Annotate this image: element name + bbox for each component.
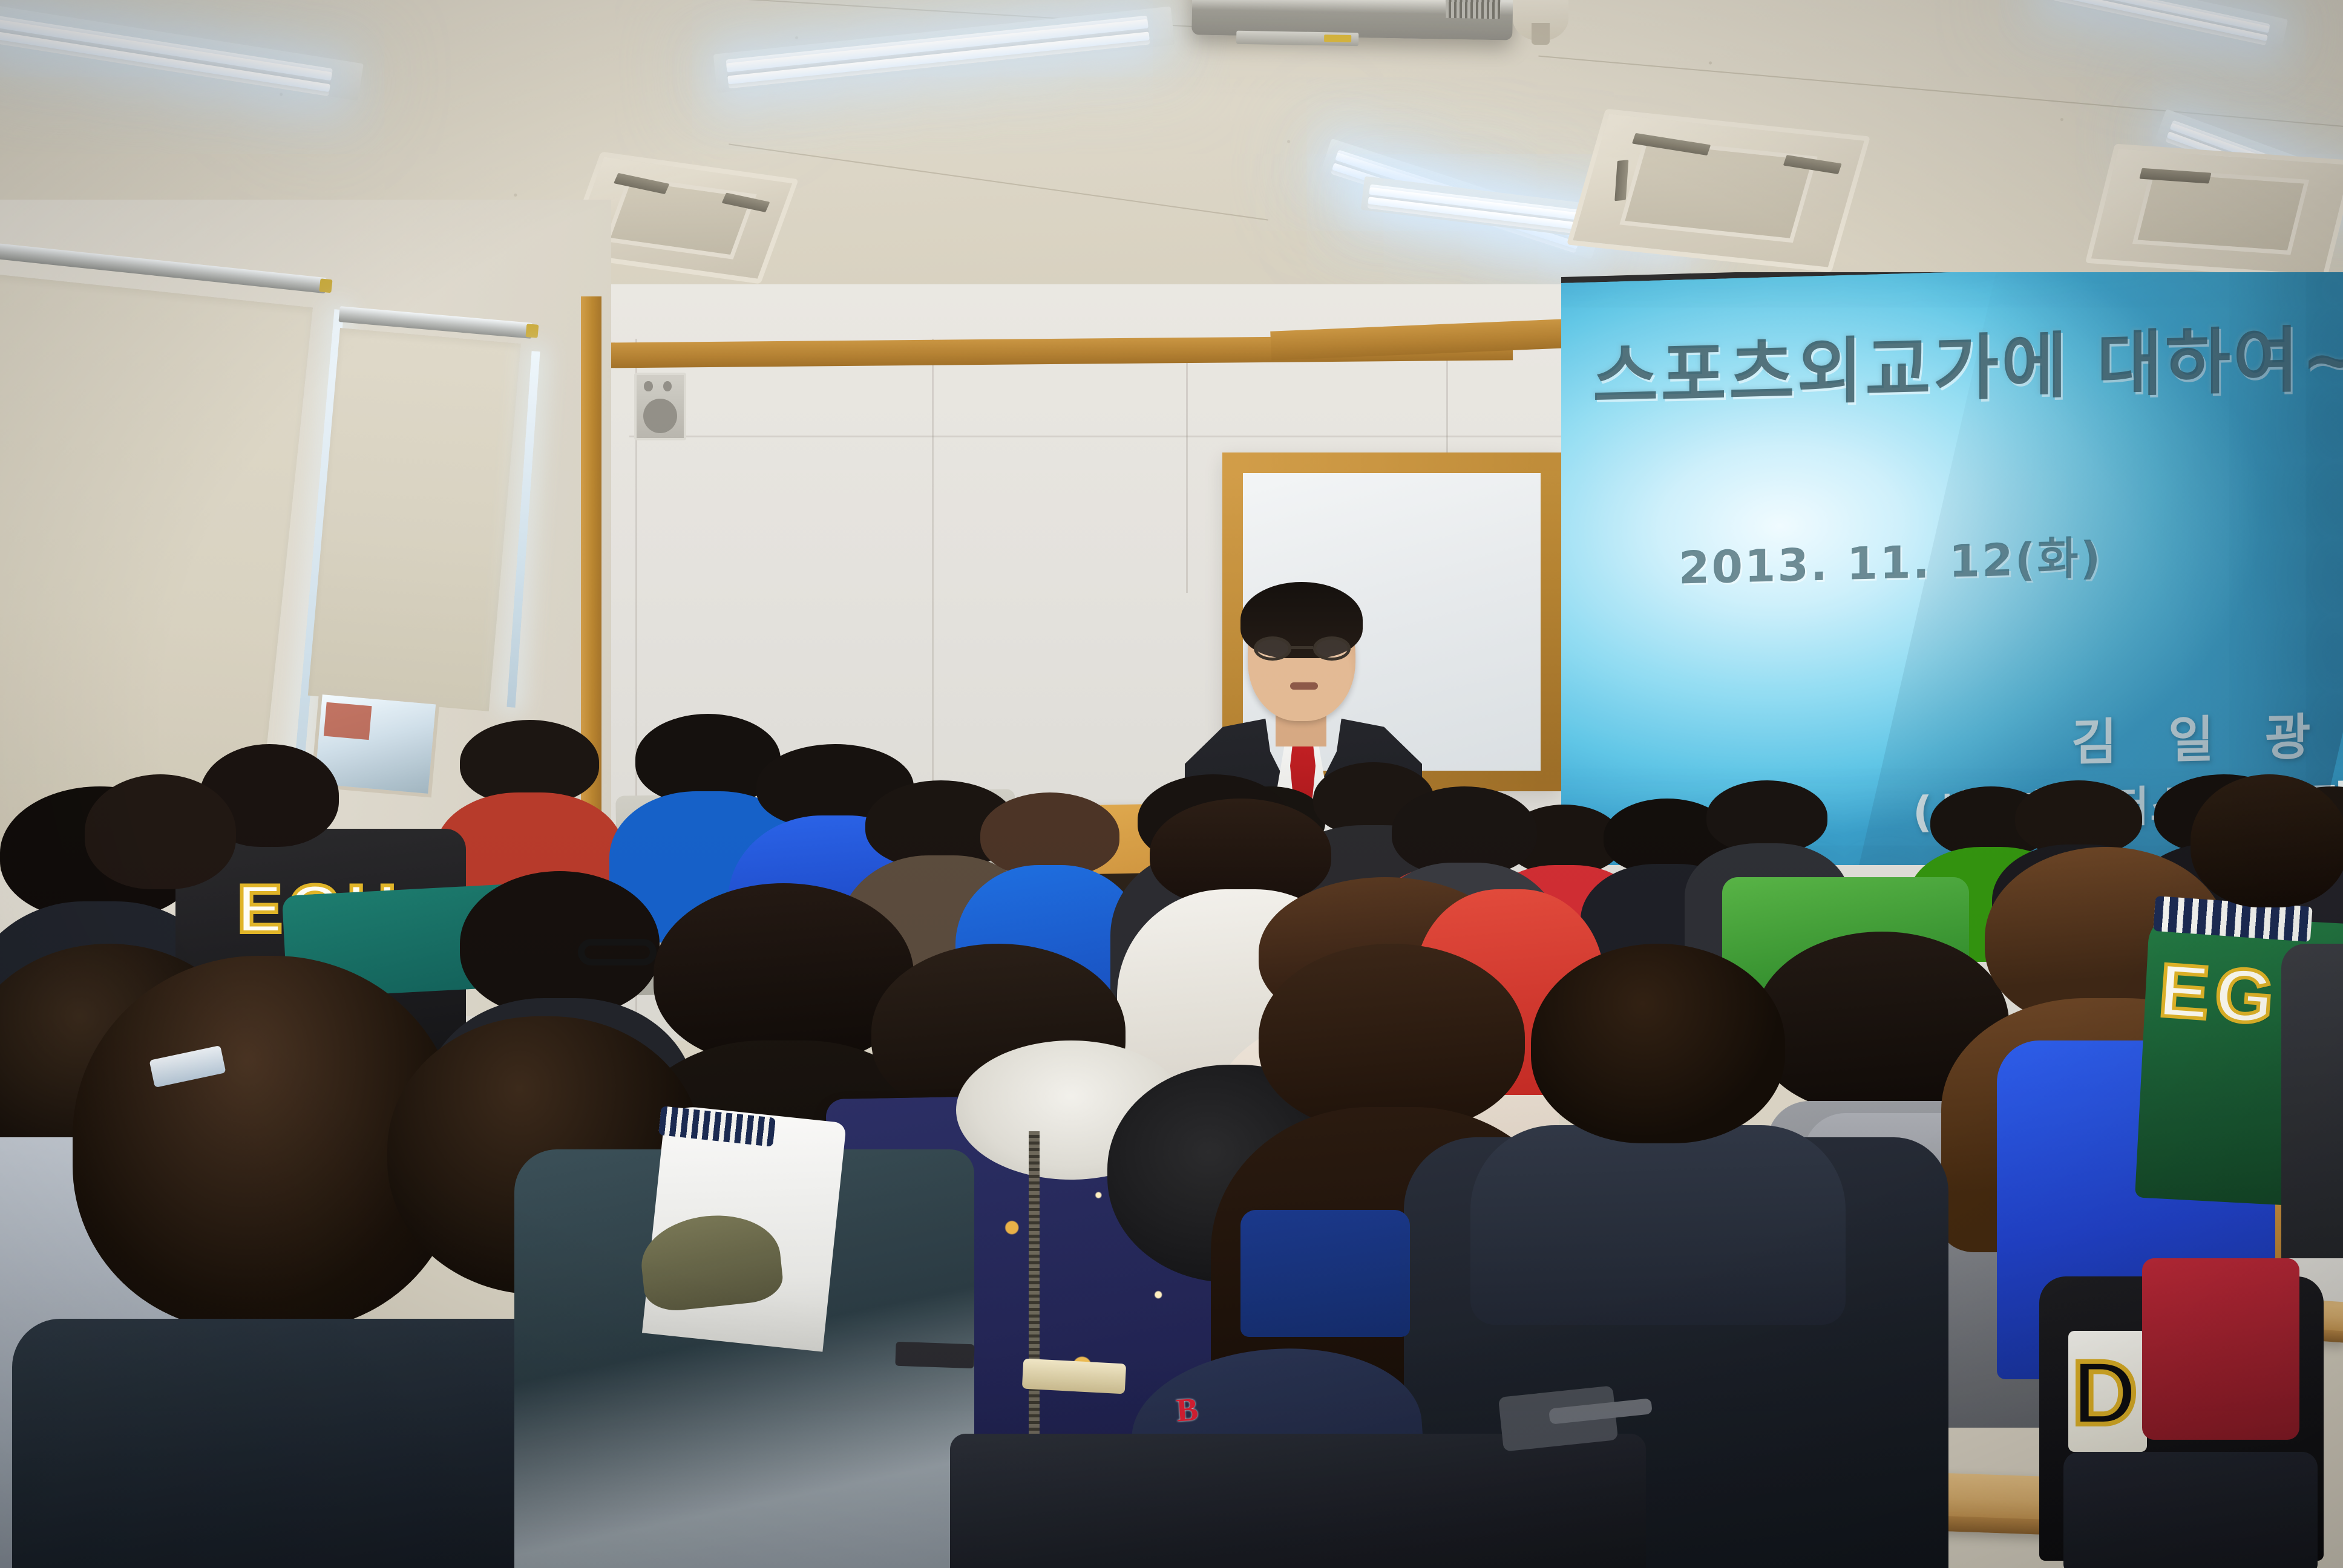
- pa-speaker-tweeter: [644, 381, 652, 391]
- head-long-hair: [2191, 774, 2343, 907]
- projector-vent-grille: [1446, 0, 1501, 19]
- audience-member: [85, 774, 236, 968]
- ac-vent-grille: [605, 177, 756, 260]
- phone-on-desk[interactable]: [895, 1342, 974, 1369]
- notebook-on-desk: [1022, 1359, 1126, 1394]
- head-ponytail: [1259, 944, 1525, 1131]
- wall-panel-seam: [1186, 339, 1188, 593]
- slide-date: 2013. 11. 12(화): [1679, 522, 2102, 597]
- cap-team-letter: B: [1175, 1390, 1199, 1429]
- black-bag: [2063, 1452, 2318, 1568]
- pa-speaker: [634, 373, 686, 440]
- projector-lens-plate: [1236, 31, 1358, 47]
- eyeglass-lens: [1313, 636, 1351, 661]
- eyeglasses-icon: [578, 939, 657, 965]
- pa-speaker-cone: [643, 399, 677, 433]
- head: [1706, 780, 1827, 853]
- head: [85, 774, 236, 889]
- head: [460, 720, 599, 805]
- slide-title: 스포츠외교가에 대하여~~~: [1593, 320, 2312, 417]
- head: [1531, 944, 1785, 1143]
- ac-vent-grille: [2132, 169, 2309, 254]
- backpack-black: [950, 1434, 1646, 1568]
- wall-panel-seam: [629, 436, 1573, 437]
- window-exterior-object: [323, 702, 372, 740]
- blue-backpack: [1240, 1210, 1410, 1337]
- ac-ceiling-vent: [1567, 109, 1870, 272]
- red-bag: [2142, 1258, 2299, 1440]
- audience-member: [2281, 944, 2343, 1258]
- eyeglass-lens: [1254, 636, 1291, 661]
- varsity-jacket-black-text: D: [2072, 1341, 2143, 1445]
- eyeglasses-icon: [1254, 636, 1351, 661]
- jacket-zipper: [1029, 1131, 1040, 1446]
- audience-member: [1531, 944, 1785, 1234]
- projector: [1191, 0, 1513, 41]
- slide-author: 김 일 광: [2071, 696, 2327, 774]
- window-blind[interactable]: [308, 328, 521, 711]
- lecture-hall-photo: 스포츠외교가에 대하여~~~ 2013. 11. 12(화) 김 일 광 (서원…: [0, 0, 2343, 1568]
- ac-vent-slat: [1614, 160, 1628, 201]
- eyeglass-bridge: [1291, 646, 1313, 649]
- head: [980, 792, 1119, 877]
- ac-vent-grille: [1619, 139, 1817, 243]
- ac-ceiling-vent: [2085, 144, 2343, 280]
- pa-speaker-tweeter: [663, 381, 672, 391]
- presenter-mouth: [1290, 682, 1318, 690]
